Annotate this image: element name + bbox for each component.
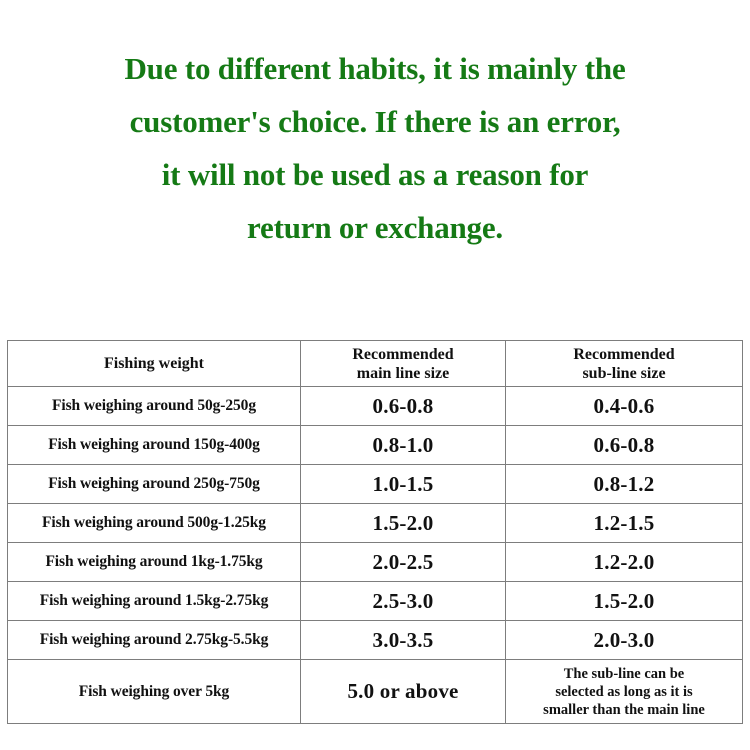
header-main-line-size-line2: main line size <box>305 364 501 383</box>
cell-sub-line-size: 0.6-0.8 <box>506 426 743 465</box>
table-body: Fish weighing around 50g-250g 0.6-0.8 0.… <box>8 387 743 724</box>
cell-main-line-size: 1.0-1.5 <box>301 465 506 504</box>
table-row: Fish weighing around 1.5kg-2.75kg 2.5-3.… <box>8 582 743 621</box>
table-row: Fish weighing around 500g-1.25kg 1.5-2.0… <box>8 504 743 543</box>
cell-sub-line-size: 0.4-0.6 <box>506 387 743 426</box>
header-fishing-weight-label: Fishing weight <box>104 355 204 372</box>
header-main-line-size: Recommended main line size <box>301 341 506 387</box>
cell-main-line-size: 0.6-0.8 <box>301 387 506 426</box>
header-sub-line-size: Recommended sub-line size <box>506 341 743 387</box>
header-main-line-size-line1: Recommended <box>305 345 501 364</box>
cell-sub-line-size: 0.8-1.2 <box>506 465 743 504</box>
table-row: Fish weighing over 5kg 5.0 or above The … <box>8 660 743 724</box>
cell-sub-line-size: 1.2-1.5 <box>506 504 743 543</box>
header-sub-line-size-line2: sub-line size <box>510 364 738 383</box>
cell-fishing-weight: Fish weighing around 1kg-1.75kg <box>8 543 301 582</box>
cell-fishing-weight: Fish weighing around 1.5kg-2.75kg <box>8 582 301 621</box>
table-header: Fishing weight Recommended main line siz… <box>8 341 743 387</box>
cell-fishing-weight: Fish weighing around 2.75kg-5.5kg <box>8 621 301 660</box>
return-policy-notice: Due to different habits, it is mainly th… <box>0 42 750 254</box>
cell-fishing-weight: Fish weighing around 250g-750g <box>8 465 301 504</box>
cell-main-line-size: 3.0-3.5 <box>301 621 506 660</box>
cell-main-line-size: 1.5-2.0 <box>301 504 506 543</box>
cell-fishing-weight: Fish weighing around 50g-250g <box>8 387 301 426</box>
cell-main-line-size: 0.8-1.0 <box>301 426 506 465</box>
cell-fishing-weight: Fish weighing over 5kg <box>8 660 301 724</box>
notice-line-1: Due to different habits, it is mainly th… <box>0 42 750 95</box>
cell-main-line-size: 5.0 or above <box>301 660 506 724</box>
table-row: Fish weighing around 150g-400g 0.8-1.0 0… <box>8 426 743 465</box>
cell-sub-line-note-line3: smaller than the main line <box>510 701 738 719</box>
table-row: Fish weighing around 250g-750g 1.0-1.5 0… <box>8 465 743 504</box>
cell-sub-line-note: The sub-line can be selected as long as … <box>506 660 743 724</box>
table-header-row: Fishing weight Recommended main line siz… <box>8 341 743 387</box>
table-row: Fish weighing around 2.75kg-5.5kg 3.0-3.… <box>8 621 743 660</box>
cell-sub-line-size: 1.5-2.0 <box>506 582 743 621</box>
notice-line-4: return or exchange. <box>0 201 750 254</box>
notice-line-3: it will not be used as a reason for <box>0 148 750 201</box>
table-row: Fish weighing around 50g-250g 0.6-0.8 0.… <box>8 387 743 426</box>
notice-line-2: customer's choice. If there is an error, <box>0 95 750 148</box>
cell-sub-line-note-line1: The sub-line can be <box>510 665 738 683</box>
cell-main-line-size: 2.0-2.5 <box>301 543 506 582</box>
header-sub-line-size-line1: Recommended <box>510 345 738 364</box>
table-row: Fish weighing around 1kg-1.75kg 2.0-2.5 … <box>8 543 743 582</box>
cell-main-line-size: 2.5-3.0 <box>301 582 506 621</box>
cell-sub-line-note-line2: selected as long as it is <box>510 683 738 701</box>
cell-fishing-weight: Fish weighing around 500g-1.25kg <box>8 504 301 543</box>
cell-sub-line-size: 1.2-2.0 <box>506 543 743 582</box>
cell-fishing-weight: Fish weighing around 150g-400g <box>8 426 301 465</box>
fishing-line-size-table: Fishing weight Recommended main line siz… <box>7 340 743 724</box>
header-fishing-weight: Fishing weight <box>8 341 301 387</box>
cell-sub-line-size: 2.0-3.0 <box>506 621 743 660</box>
